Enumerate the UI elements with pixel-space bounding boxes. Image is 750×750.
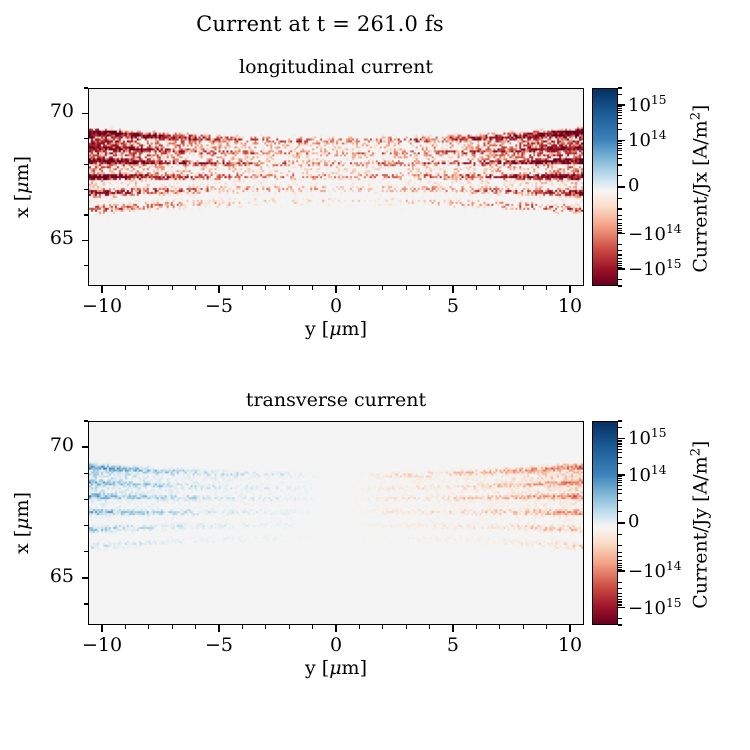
colorbar-minor-tick (618, 115, 622, 116)
colorbar-minor-tick (618, 588, 622, 589)
colorbar-minor-tick (618, 545, 622, 546)
colorbar-minor-tick (618, 215, 622, 216)
colorbar-minor-tick (618, 599, 622, 600)
x-major-tick (218, 286, 219, 293)
colorbar-gradient-longitudinal (593, 89, 617, 285)
colorbar-minor-tick (618, 480, 622, 481)
colorbar-tick-label: 0 (628, 175, 639, 196)
colorbar-major-tick (618, 268, 625, 269)
x-major-tick (101, 286, 102, 293)
colorbar-label-transverse: Current/Jy [A/m2] (688, 405, 711, 645)
y-minor-tick (84, 551, 88, 552)
figure-canvas: Current at t = 261.0 fs longitudinal cur… (0, 0, 750, 750)
y-major-tick (82, 113, 89, 114)
colorbar-minor-tick (618, 244, 622, 245)
colorbar-minor-tick (618, 478, 622, 479)
x-minor-tick (499, 625, 500, 629)
colorbar-minor-tick (618, 446, 622, 447)
colorbar-minor-tick (618, 556, 622, 557)
colorbar-minor-tick (618, 596, 622, 597)
x-minor-tick (476, 625, 477, 629)
colorbar-minor-tick (618, 441, 622, 442)
yaxis-label-transverse: x [μm] (11, 463, 33, 583)
colorbar-minor-tick (618, 223, 622, 224)
x-minor-tick (125, 625, 126, 629)
y-minor-tick (84, 214, 88, 215)
colorbar-major-tick (618, 233, 625, 234)
x-minor-tick (382, 286, 383, 290)
x-tick-label: 0 (301, 634, 371, 656)
colorbar-minor-tick (618, 482, 622, 483)
x-major-tick (569, 625, 570, 632)
colorbar-tick-label: 1015 (628, 426, 666, 449)
colorbar-minor-tick (618, 449, 622, 450)
xaxis-label-transverse: y [μm] (88, 657, 584, 679)
colorbar-minor-tick (618, 485, 622, 486)
x-minor-tick (499, 286, 500, 290)
colorbar-minor-tick (618, 624, 622, 625)
colorbar-minor-tick (618, 500, 622, 501)
x-minor-tick (429, 625, 430, 629)
x-major-tick (101, 625, 102, 632)
y-minor-tick (84, 603, 88, 604)
x-tick-label: 10 (535, 634, 605, 656)
colorbar-tick-label: 0 (628, 511, 639, 532)
colorbar-minor-tick (618, 225, 622, 226)
colorbar-minor-tick (618, 593, 622, 594)
x-tick-label: 5 (418, 295, 488, 317)
colorbar-minor-tick (618, 582, 622, 583)
colorbar-minor-tick (618, 112, 622, 113)
y-major-tick (82, 577, 89, 578)
figure-suptitle: Current at t = 261.0 fs (0, 12, 640, 36)
colorbar-minor-tick (618, 164, 622, 165)
colorbar-minor-tick (618, 154, 622, 155)
x-major-tick (218, 625, 219, 632)
x-major-tick (335, 625, 336, 632)
colorbar-major-tick (618, 570, 625, 571)
y-minor-tick (84, 499, 88, 500)
y-major-tick (82, 240, 89, 241)
x-tick-label: −10 (67, 295, 137, 317)
x-tick-label: 10 (535, 295, 605, 317)
x-minor-tick (546, 625, 547, 629)
colorbar-tick-label: 1014 (628, 128, 666, 151)
y-minor-tick (84, 164, 88, 165)
colorbar-major-tick (618, 104, 625, 105)
colorbar-minor-tick (618, 493, 622, 494)
y-tick-label: 70 (14, 100, 74, 122)
x-minor-tick (289, 625, 290, 629)
yaxis-label-longitudinal: x [μm] (11, 127, 33, 247)
colorbar-major-tick (618, 186, 625, 187)
colorbar-tick-label: −1015 (628, 257, 682, 280)
y-major-tick (82, 446, 89, 447)
x-minor-tick (172, 286, 173, 290)
colorbar-minor-tick (618, 141, 622, 142)
colorbar-tick-label: 1015 (628, 93, 666, 116)
y-minor-tick (84, 189, 88, 190)
panel-title-transverse: transverse current (88, 389, 584, 411)
colorbar-minor-tick (618, 263, 622, 264)
colorbar-minor-tick (618, 148, 622, 149)
x-minor-tick (242, 625, 243, 629)
x-tick-label: −5 (184, 634, 254, 656)
x-minor-tick (523, 286, 524, 290)
colorbar-minor-tick (618, 463, 622, 464)
colorbar-minor-tick (618, 110, 622, 111)
heatmap-panel-transverse[interactable] (88, 421, 584, 625)
colorbar-tick-label: −1015 (628, 596, 682, 619)
y-tick-label: 70 (14, 434, 74, 456)
colorbar-minor-tick (618, 143, 622, 144)
colorbar-minor-tick (618, 285, 622, 286)
x-tick-label: −10 (67, 634, 137, 656)
colorbar-minor-tick (618, 565, 622, 566)
x-minor-tick (406, 625, 407, 629)
y-minor-tick (84, 265, 88, 266)
colorbar-minor-tick (618, 175, 622, 176)
colorbar-minor-tick (618, 261, 622, 262)
colorbar-minor-tick (618, 129, 622, 130)
x-major-tick (452, 625, 453, 632)
colorbar-minor-tick (618, 452, 622, 453)
x-minor-tick (195, 286, 196, 290)
x-minor-tick (125, 286, 126, 290)
colorbar-minor-tick (618, 443, 622, 444)
x-minor-tick (406, 286, 407, 290)
colorbar-minor-tick (618, 440, 622, 441)
x-minor-tick (312, 625, 313, 629)
colorbar-minor-tick (618, 552, 622, 553)
x-minor-tick (382, 625, 383, 629)
colorbar-major-tick (618, 438, 625, 439)
colorbar-minor-tick (618, 258, 622, 259)
x-minor-tick (523, 625, 524, 629)
colorbar-minor-tick (618, 420, 622, 421)
xaxis-label-longitudinal: y [μm] (88, 318, 584, 340)
y-minor-tick (84, 420, 88, 421)
x-minor-tick (148, 625, 149, 629)
x-minor-tick (429, 286, 430, 290)
colorbar-minor-tick (618, 123, 622, 124)
colorbar-minor-tick (618, 145, 622, 146)
x-minor-tick (172, 625, 173, 629)
colorbar-minor-tick (618, 150, 622, 151)
colorbar-minor-tick (618, 219, 622, 220)
colorbar-minor-tick (618, 94, 622, 95)
colorbar-minor-tick (618, 457, 622, 458)
x-minor-tick (148, 286, 149, 290)
colorbar-major-tick (618, 522, 625, 523)
heatmap-image-transverse (89, 422, 583, 624)
colorbar-minor-tick (618, 250, 622, 251)
y-minor-tick (84, 87, 88, 88)
colorbar-major-tick (618, 607, 625, 608)
x-minor-tick (195, 625, 196, 629)
y-minor-tick (84, 473, 88, 474)
x-minor-tick (265, 286, 266, 290)
panel-title-longitudinal: longitudinal current (88, 56, 584, 78)
colorbar-minor-tick (618, 601, 622, 602)
colorbar-minor-tick (618, 108, 622, 109)
colorbar-minor-tick (618, 560, 622, 561)
colorbar-tick-label: −1014 (628, 559, 682, 582)
colorbar-minor-tick (618, 228, 622, 229)
x-tick-label: −5 (184, 295, 254, 317)
colorbar-label-longitudinal: Current/Jx [A/m2] (688, 69, 711, 309)
colorbar-major-tick (618, 474, 625, 475)
colorbar-minor-tick (618, 563, 622, 564)
colorbar-minor-tick (618, 534, 622, 535)
colorbar-minor-tick (618, 476, 622, 477)
x-major-tick (452, 286, 453, 293)
x-tick-label: 0 (301, 295, 371, 317)
colorbar-minor-tick (618, 618, 622, 619)
x-tick-label: 5 (418, 634, 488, 656)
x-minor-tick (265, 625, 266, 629)
colorbar-minor-tick (618, 87, 622, 88)
colorbar-tick-label: 1014 (628, 463, 666, 486)
x-minor-tick (359, 286, 360, 290)
colorbar-minor-tick (618, 511, 622, 512)
colorbar-transverse[interactable] (592, 421, 618, 625)
x-minor-tick (242, 286, 243, 290)
colorbar-minor-tick (618, 118, 622, 119)
colorbar-minor-tick (618, 158, 622, 159)
heatmap-panel-longitudinal[interactable] (88, 88, 584, 286)
x-minor-tick (476, 286, 477, 290)
x-major-tick (335, 286, 336, 293)
colorbar-minor-tick (618, 198, 622, 199)
y-minor-tick (84, 138, 88, 139)
colorbar-major-tick (618, 140, 625, 141)
x-minor-tick (289, 286, 290, 290)
x-major-tick (569, 286, 570, 293)
colorbar-minor-tick (618, 254, 622, 255)
x-minor-tick (312, 286, 313, 290)
colorbar-minor-tick (618, 489, 622, 490)
colorbar-longitudinal[interactable] (592, 88, 618, 286)
colorbar-tick-label: −1014 (628, 222, 682, 245)
colorbar-minor-tick (618, 279, 622, 280)
x-minor-tick (359, 625, 360, 629)
colorbar-gradient-transverse (593, 422, 617, 624)
colorbar-minor-tick (618, 208, 622, 209)
x-minor-tick (546, 286, 547, 290)
colorbar-minor-tick (618, 106, 622, 107)
colorbar-minor-tick (618, 427, 622, 428)
heatmap-image-longitudinal (89, 89, 583, 285)
y-minor-tick (84, 525, 88, 526)
